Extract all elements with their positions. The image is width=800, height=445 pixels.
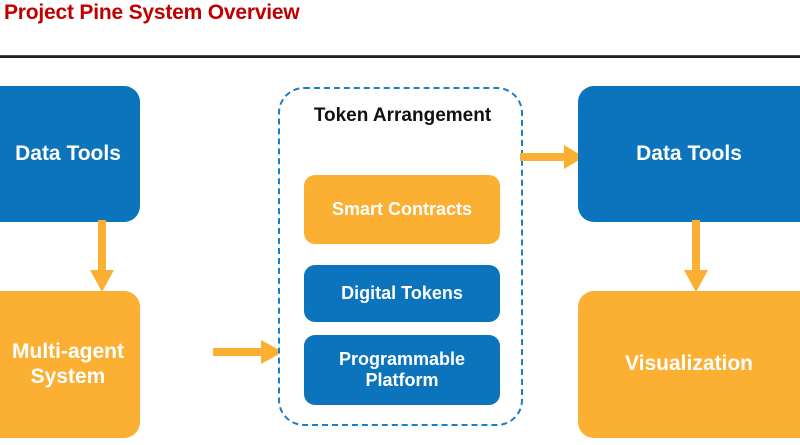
node-programmable-platform[interactable]: Programmable Platform [304, 335, 500, 405]
arrow-data-tools-right-to-visualization [682, 220, 710, 294]
diagram-canvas: Project Pine System Overview Data Tools … [0, 0, 800, 445]
page-title: Project Pine System Overview [4, 1, 300, 25]
node-multi-agent-system[interactable]: Multi-agent System [0, 291, 140, 438]
arrow-multi-agent-to-token-arrangement [213, 338, 285, 366]
token-arrangement-title: Token Arrangement [280, 105, 525, 128]
node-digital-tokens[interactable]: Digital Tokens [304, 265, 500, 322]
token-arrangement-group: Token Arrangement Smart Contracts Digita… [278, 87, 523, 426]
arrow-token-arrangement-to-data-tools-right [520, 143, 586, 171]
arrow-data-tools-left-to-multi-agent [88, 220, 116, 294]
node-visualization[interactable]: Visualization [578, 291, 800, 438]
node-data-tools-left[interactable]: Data Tools [0, 86, 140, 222]
node-data-tools-right[interactable]: Data Tools [578, 86, 800, 222]
node-smart-contracts[interactable]: Smart Contracts [304, 175, 500, 244]
header-divider [0, 55, 800, 58]
